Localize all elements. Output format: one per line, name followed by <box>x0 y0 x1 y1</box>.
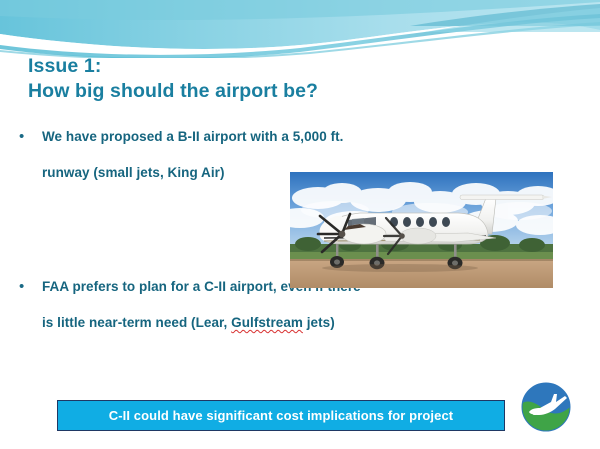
bullet-1-line-1: We have proposed a B-II airport with a 5… <box>42 126 343 148</box>
bullet-marker-icon: • <box>16 126 42 148</box>
callout-text: C-II could have significant cost implica… <box>109 408 453 423</box>
header-wave-decoration <box>0 0 600 58</box>
aircraft-photo <box>290 172 553 288</box>
misspelled-word: Gulfstream <box>231 315 303 330</box>
bullet-2-line-2-suffix: jets) <box>303 315 335 330</box>
page-title: Issue 1: How big should the airport be? <box>28 54 548 104</box>
title-line-2: How big should the airport be? <box>28 79 548 104</box>
bullet-1-row: • We have proposed a B-II airport with a… <box>16 126 576 148</box>
title-line-1: Issue 1: <box>28 54 548 79</box>
bullet-1-line-2-prefix: runway (small jets, King Air) <box>42 165 225 180</box>
slide-canvas: Issue 1: How big should the airport be? … <box>0 0 600 449</box>
bullet-marker-icon: • <box>16 276 42 298</box>
organization-logo <box>521 382 571 432</box>
callout-box: C-II could have significant cost implica… <box>57 400 505 431</box>
bullet-2-line-2: is little near-term need (Lear, Gulfstre… <box>42 312 576 334</box>
bullet-2-line-2-prefix: is little near-term need (Lear, <box>42 315 231 330</box>
